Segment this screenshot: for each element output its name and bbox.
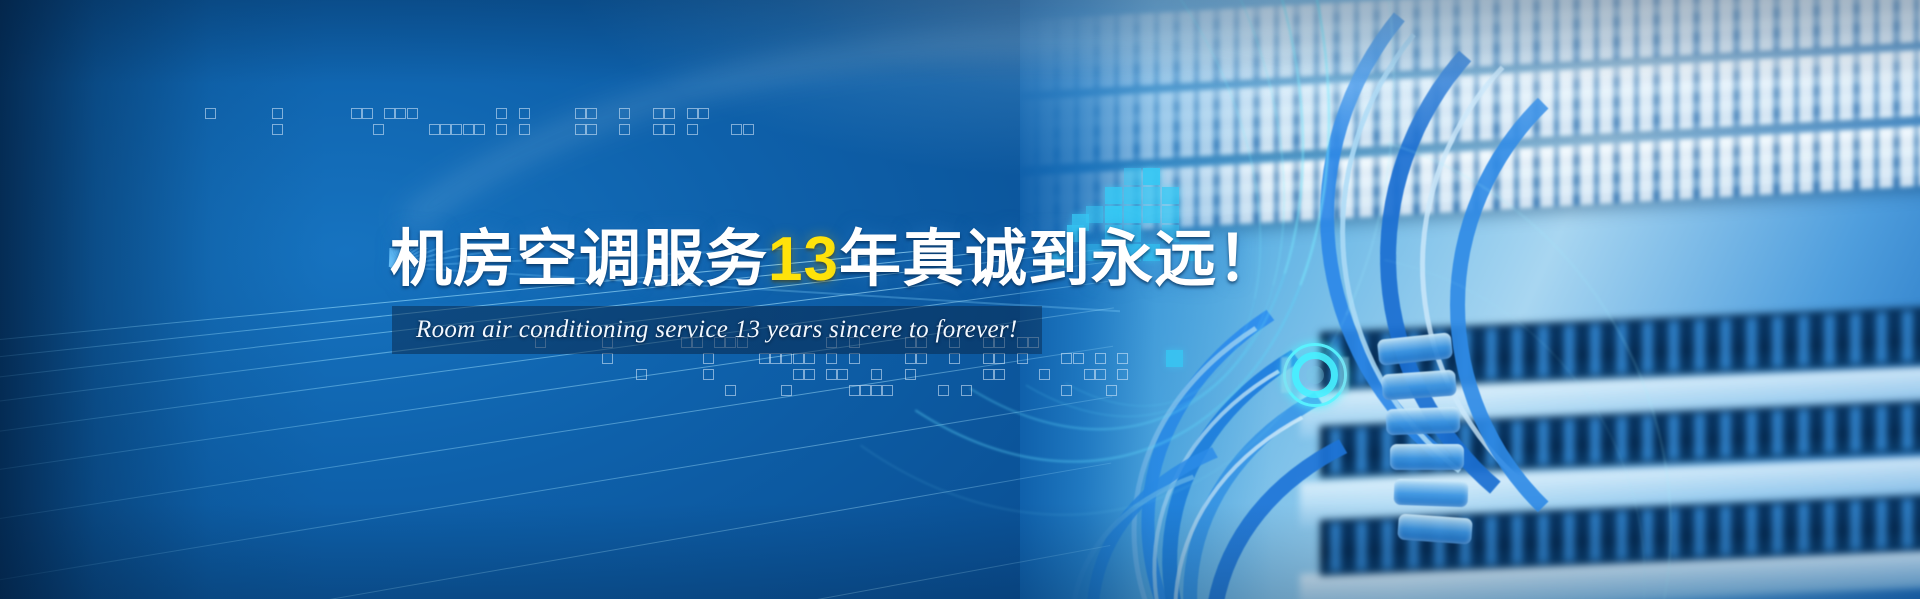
promo-banner: 机房空调服务13年真诚到永远！ Room air conditioning se… (0, 0, 1920, 599)
mosaic-square (1143, 168, 1160, 185)
mosaic-square (1124, 168, 1141, 185)
headline-part-2: 年真诚到永远！ (839, 225, 1280, 294)
mosaic-square (1143, 187, 1160, 204)
mosaic-square (1166, 350, 1183, 367)
hud-ring-icon (1283, 343, 1347, 407)
mosaic-square (1124, 187, 1141, 204)
headline-highlight-years: 13 (768, 225, 839, 294)
cyan-mosaic-decor (0, 0, 1920, 599)
mosaic-square (1162, 187, 1179, 204)
mosaic-square (1105, 187, 1122, 204)
banner-subtitle: Room air conditioning service 13 years s… (416, 306, 1018, 354)
headline-part-1: 机房空调服务 (390, 225, 768, 294)
banner-headline: 机房空调服务13年真诚到永远！ (390, 208, 1280, 298)
